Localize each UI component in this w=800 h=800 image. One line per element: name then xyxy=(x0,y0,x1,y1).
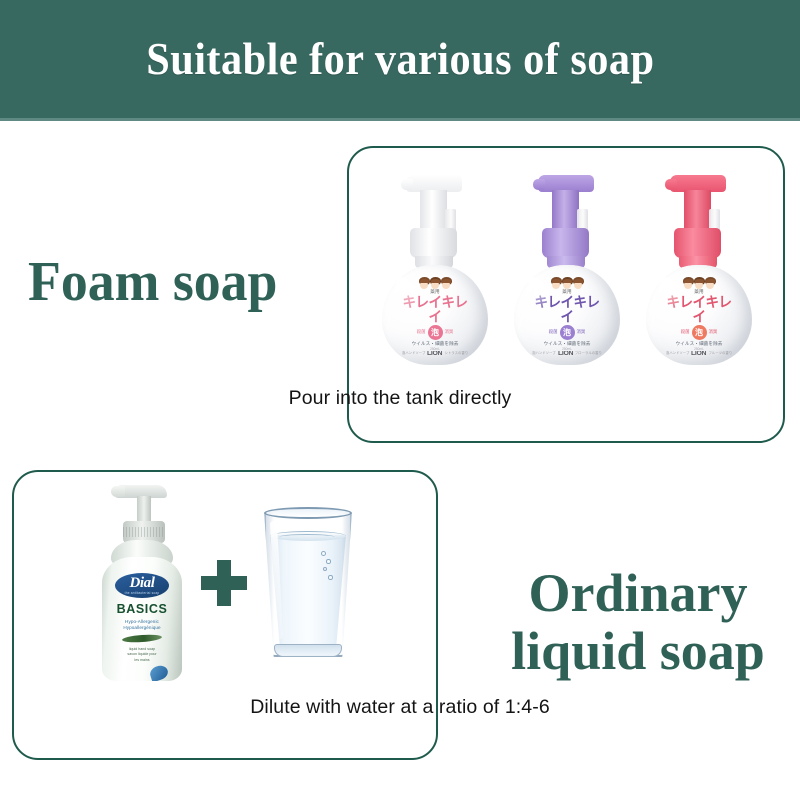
bubble xyxy=(326,559,331,564)
label-micro-right-text: シトラスの香り xyxy=(445,352,469,355)
label-brand-text: キレイキレイ xyxy=(398,295,472,323)
glass-of-water-icon xyxy=(259,507,357,659)
label-brand-text: キレイキレイ xyxy=(662,295,736,323)
ordinary-label-line-1: Ordinary xyxy=(528,563,747,623)
liquid-card-caption: Dilute with water at a ratio of 1:4-6 xyxy=(0,696,800,719)
kids-mascot-icon xyxy=(530,275,604,289)
label-micro-left-text: 泡ハンドソープ xyxy=(402,352,426,355)
infographic-page: Suitable for various of soap Foam soap 薬… xyxy=(0,0,800,800)
label-foam-badge: 泡 xyxy=(428,325,443,340)
foam-bottle-row: 薬用 キレイキレイ 殺菌 泡 消臭 ウイルス・細菌を除去 泡ハンドソープ LIO… xyxy=(358,170,776,365)
liquid-soap-illustration-row: Dial the antibacterial soap BASICS Hypo-… xyxy=(20,478,430,688)
bottle-label: 薬用 キレイキレイ 殺菌 泡 消臭 ウイルス・細菌を除去 泡ハンドソープ LIO… xyxy=(530,275,604,347)
pump-collar xyxy=(410,228,457,258)
label-badge-right-text: 消臭 xyxy=(577,330,586,334)
label-micro-right-text: フローラルの香り xyxy=(575,352,602,355)
dial-label: Dial the antibacterial soap BASICS Hypo-… xyxy=(102,573,182,681)
bottle-label: 薬用 キレイキレイ 殺菌 泡 消臭 ウイルス・細菌を除去 泡ハンドソープ LIO… xyxy=(662,275,736,347)
bottle-body: Dial the antibacterial soap BASICS Hypo-… xyxy=(102,557,182,681)
foam-bottle-purple[interactable]: 薬用 キレイキレイ 殺菌 泡 消臭 ウイルス・細菌を除去 泡ハンドソープ LIO… xyxy=(511,173,623,365)
pump-stem xyxy=(137,496,151,524)
lion-logo: LION xyxy=(691,351,706,357)
foam-bottle-pink[interactable]: 薬用 キレイキレイ 殺菌 泡 消臭 ウイルス・細菌を除去 泡ハンドソープ LIO… xyxy=(643,173,755,365)
ordinary-liquid-soap-section-label: Ordinary liquid soap xyxy=(492,566,784,678)
label-badge-row: 殺菌 泡 消臭 xyxy=(530,325,604,340)
swoosh-icon xyxy=(148,664,169,681)
pump-collar xyxy=(674,228,721,258)
label-subtitle-text: ウイルス・細菌を除去 xyxy=(398,342,472,347)
label-volume-text: 250mL xyxy=(398,347,472,351)
ordinary-label-line-2: liquid soap xyxy=(492,624,784,678)
bottle-body: 薬用 キレイキレイ 殺菌 泡 消臭 ウイルス・細菌を除去 泡ハンドソープ LIO… xyxy=(382,265,488,365)
glass-rim xyxy=(264,507,352,519)
dial-brand-text: Dial xyxy=(129,576,154,591)
label-badge-left-text: 殺菌 xyxy=(417,330,426,334)
bottle-body: 薬用 キレイキレイ 殺菌 泡 消臭 ウイルス・細菌を除去 泡ハンドソープ LIO… xyxy=(514,265,620,365)
lion-logo: LION xyxy=(427,351,442,357)
label-foam-badge: 泡 xyxy=(560,325,575,340)
label-micro-left-text: 泡ハンドソープ xyxy=(532,352,556,355)
dial-claim-line-2: Hypoallergénique xyxy=(102,625,182,631)
label-badge-right-text: 消臭 xyxy=(445,330,454,334)
bubble xyxy=(321,551,326,556)
label-badge-row: 殺菌 泡 消臭 xyxy=(398,325,472,340)
label-bottom-row: 泡ハンドソープ LION フルーツの香り xyxy=(662,351,736,357)
bubble xyxy=(328,575,333,580)
glass-base xyxy=(274,644,342,657)
label-micro-left-text: 泡ハンドソープ xyxy=(666,352,690,355)
pump-collar xyxy=(542,228,589,258)
label-volume-text: 250mL xyxy=(662,347,736,351)
label-foam-badge: 泡 xyxy=(692,325,707,340)
label-subtitle-text: ウイルス・細菌を除去 xyxy=(662,342,736,347)
label-badge-left-text: 殺菌 xyxy=(681,330,690,334)
label-badge-row: 殺菌 泡 消臭 xyxy=(662,325,736,340)
lion-logo: LION xyxy=(558,351,573,357)
dial-brand-oval: Dial the antibacterial soap xyxy=(115,573,169,598)
page-title: Suitable for various of soap xyxy=(146,33,654,85)
kids-mascot-icon xyxy=(662,275,736,289)
label-volume-text: 250mL xyxy=(530,347,604,351)
bottle-label: 薬用 キレイキレイ 殺菌 泡 消臭 ウイルス・細菌を除去 泡ハンドソープ LIO… xyxy=(398,275,472,347)
dial-basics-bottle[interactable]: Dial the antibacterial soap BASICS Hypo-… xyxy=(93,483,189,683)
dial-fineprint-line-3: les mains xyxy=(102,658,182,663)
header-banner-bottom-edge xyxy=(0,118,800,121)
dial-product-line-text: BASICS xyxy=(102,603,182,616)
foam-soap-section-label: Foam soap xyxy=(28,254,277,310)
label-bottom-row: 泡ハンドソープ LION フローラルの香り xyxy=(530,351,604,357)
label-subtitle-text: ウイルス・細菌を除去 xyxy=(530,342,604,347)
label-micro-right-text: フルーツの香り xyxy=(709,352,733,355)
label-badge-left-text: 殺菌 xyxy=(549,330,558,334)
bottle-body: 薬用 キレイキレイ 殺菌 泡 消臭 ウイルス・細菌を除去 泡ハンドソープ LIO… xyxy=(646,265,752,365)
foam-card-caption: Pour into the tank directly xyxy=(0,387,800,410)
label-bottom-row: 泡ハンドソープ LION シトラスの香り xyxy=(398,351,472,357)
plus-icon xyxy=(201,560,247,606)
label-badge-right-text: 消臭 xyxy=(709,330,718,334)
leaf-icon xyxy=(122,633,162,643)
kids-mascot-icon xyxy=(398,275,472,289)
label-brand-text: キレイキレイ xyxy=(530,295,604,323)
water-ripple xyxy=(279,534,335,540)
bubble xyxy=(323,567,327,571)
header-banner: Suitable for various of soap xyxy=(0,0,800,118)
dial-brand-tagline: the antibacterial soap xyxy=(125,592,160,595)
foam-bottle-white[interactable]: 薬用 キレイキレイ 殺菌 泡 消臭 ウイルス・細菌を除去 泡ハンドソープ LIO… xyxy=(379,173,491,365)
